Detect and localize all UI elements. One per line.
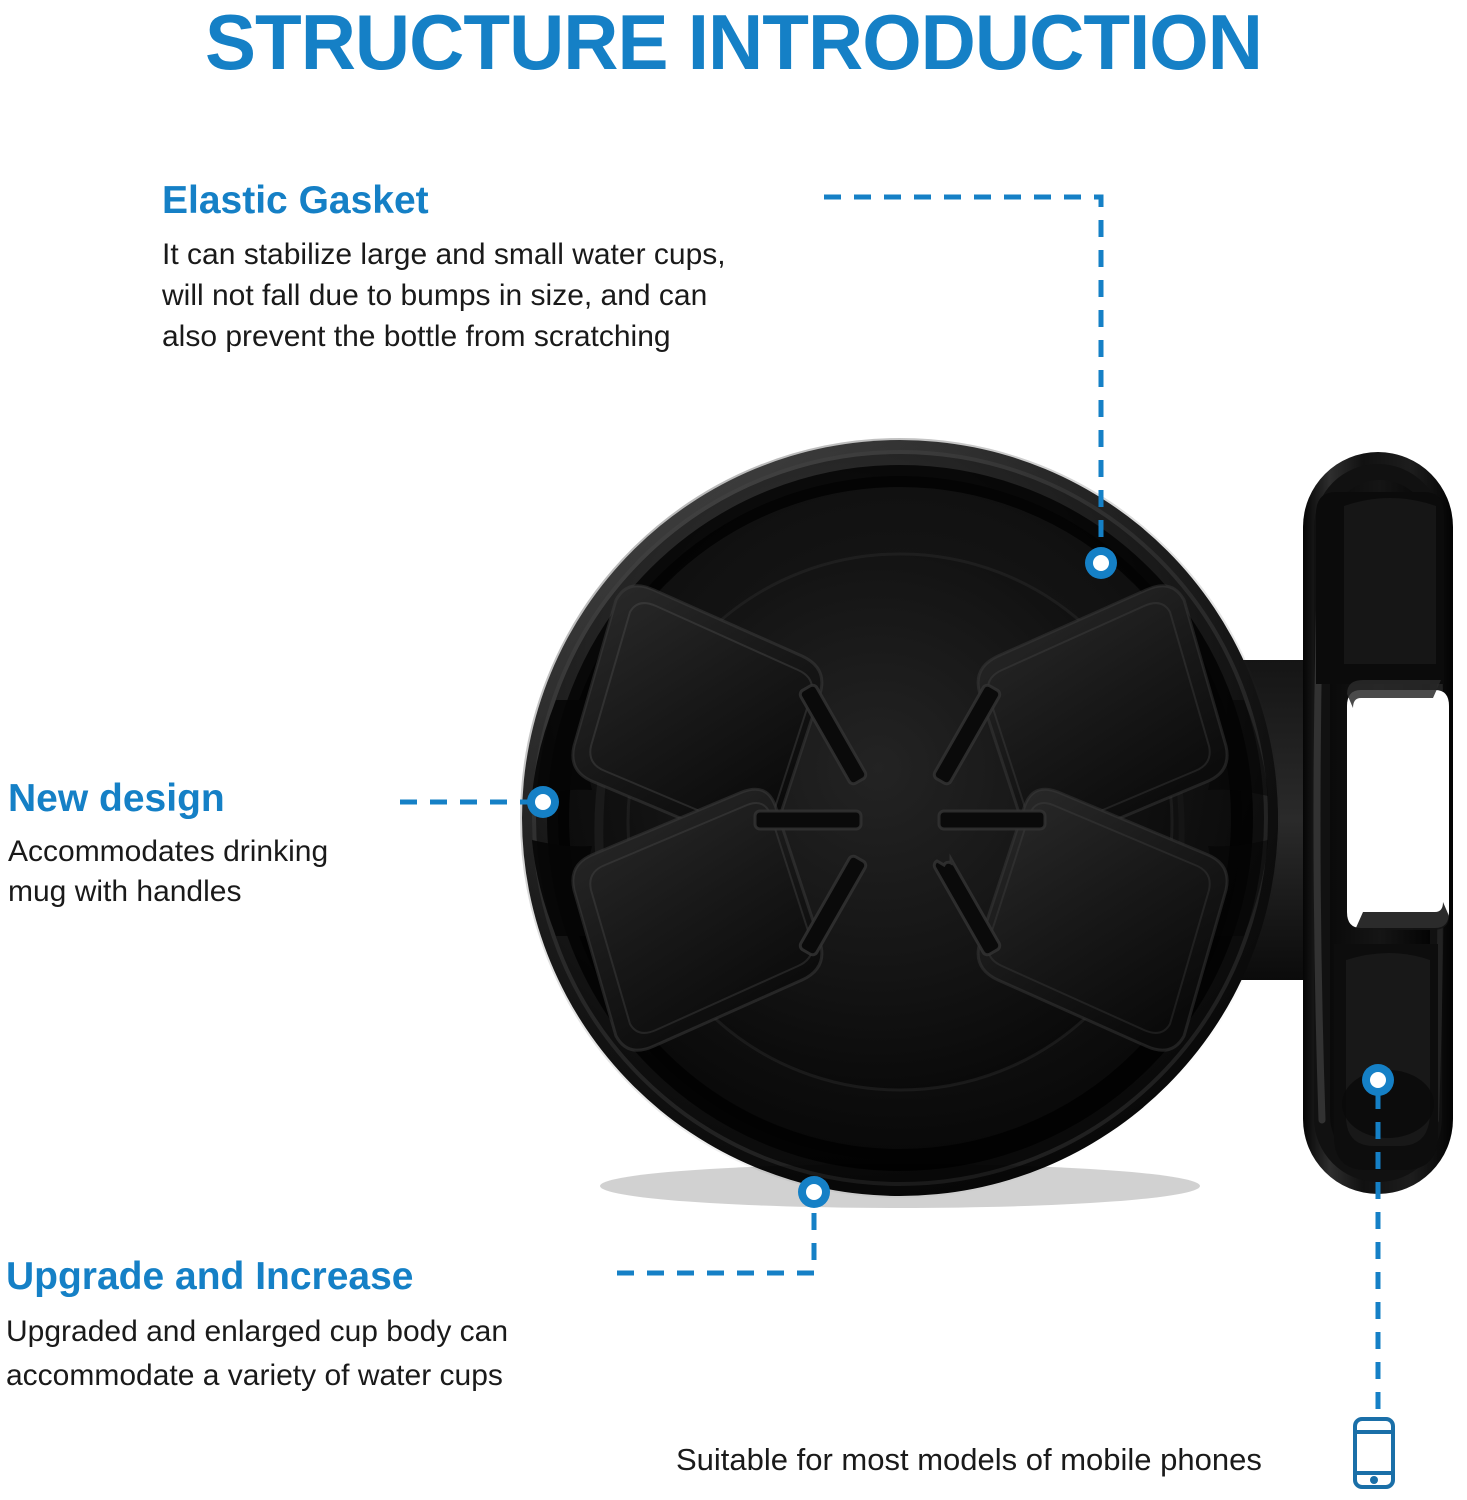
callout-heading-new-design: New design: [8, 774, 328, 824]
callout-line: Upgraded and enlarged cup body can: [6, 1310, 508, 1354]
callout-line: mug with handles: [8, 872, 328, 912]
callout-body-upgrade-and-increase: Upgraded and enlarged cup body can accom…: [6, 1310, 508, 1398]
callout-line: It can stabilize large and small water c…: [162, 234, 726, 275]
callout-heading-upgrade-and-increase: Upgrade and Increase: [6, 1252, 508, 1302]
callout-line: also prevent the bottle from scratching: [162, 316, 726, 357]
bottom-note-text: Suitable for most models of mobile phone…: [676, 1440, 1262, 1480]
callout-line: will not fall due to bumps in size, and …: [162, 275, 726, 316]
callout-line: accommodate a variety of water cups: [6, 1354, 508, 1398]
cup-bowl: [522, 440, 1278, 1208]
callout-body-new-design: Accommodates drinking mug with handles: [8, 832, 328, 912]
callout-body-elastic-gasket: It can stabilize large and small water c…: [162, 234, 726, 357]
callout-heading-elastic-gasket: Elastic Gasket: [162, 176, 726, 226]
callout-line: Accommodates drinking: [8, 832, 328, 872]
callout-new-design: New design Accommodates drinking mug wit…: [8, 774, 328, 912]
callout-elastic-gasket: Elastic Gasket It can stabilize large an…: [152, 176, 726, 357]
callout-upgrade-and-increase: Upgrade and Increase Upgraded and enlarg…: [6, 1252, 508, 1398]
mobile-phone-icon: [1352, 1416, 1396, 1490]
infographic-canvas: STRUCTURE INTRODUCTION: [0, 0, 1467, 1500]
